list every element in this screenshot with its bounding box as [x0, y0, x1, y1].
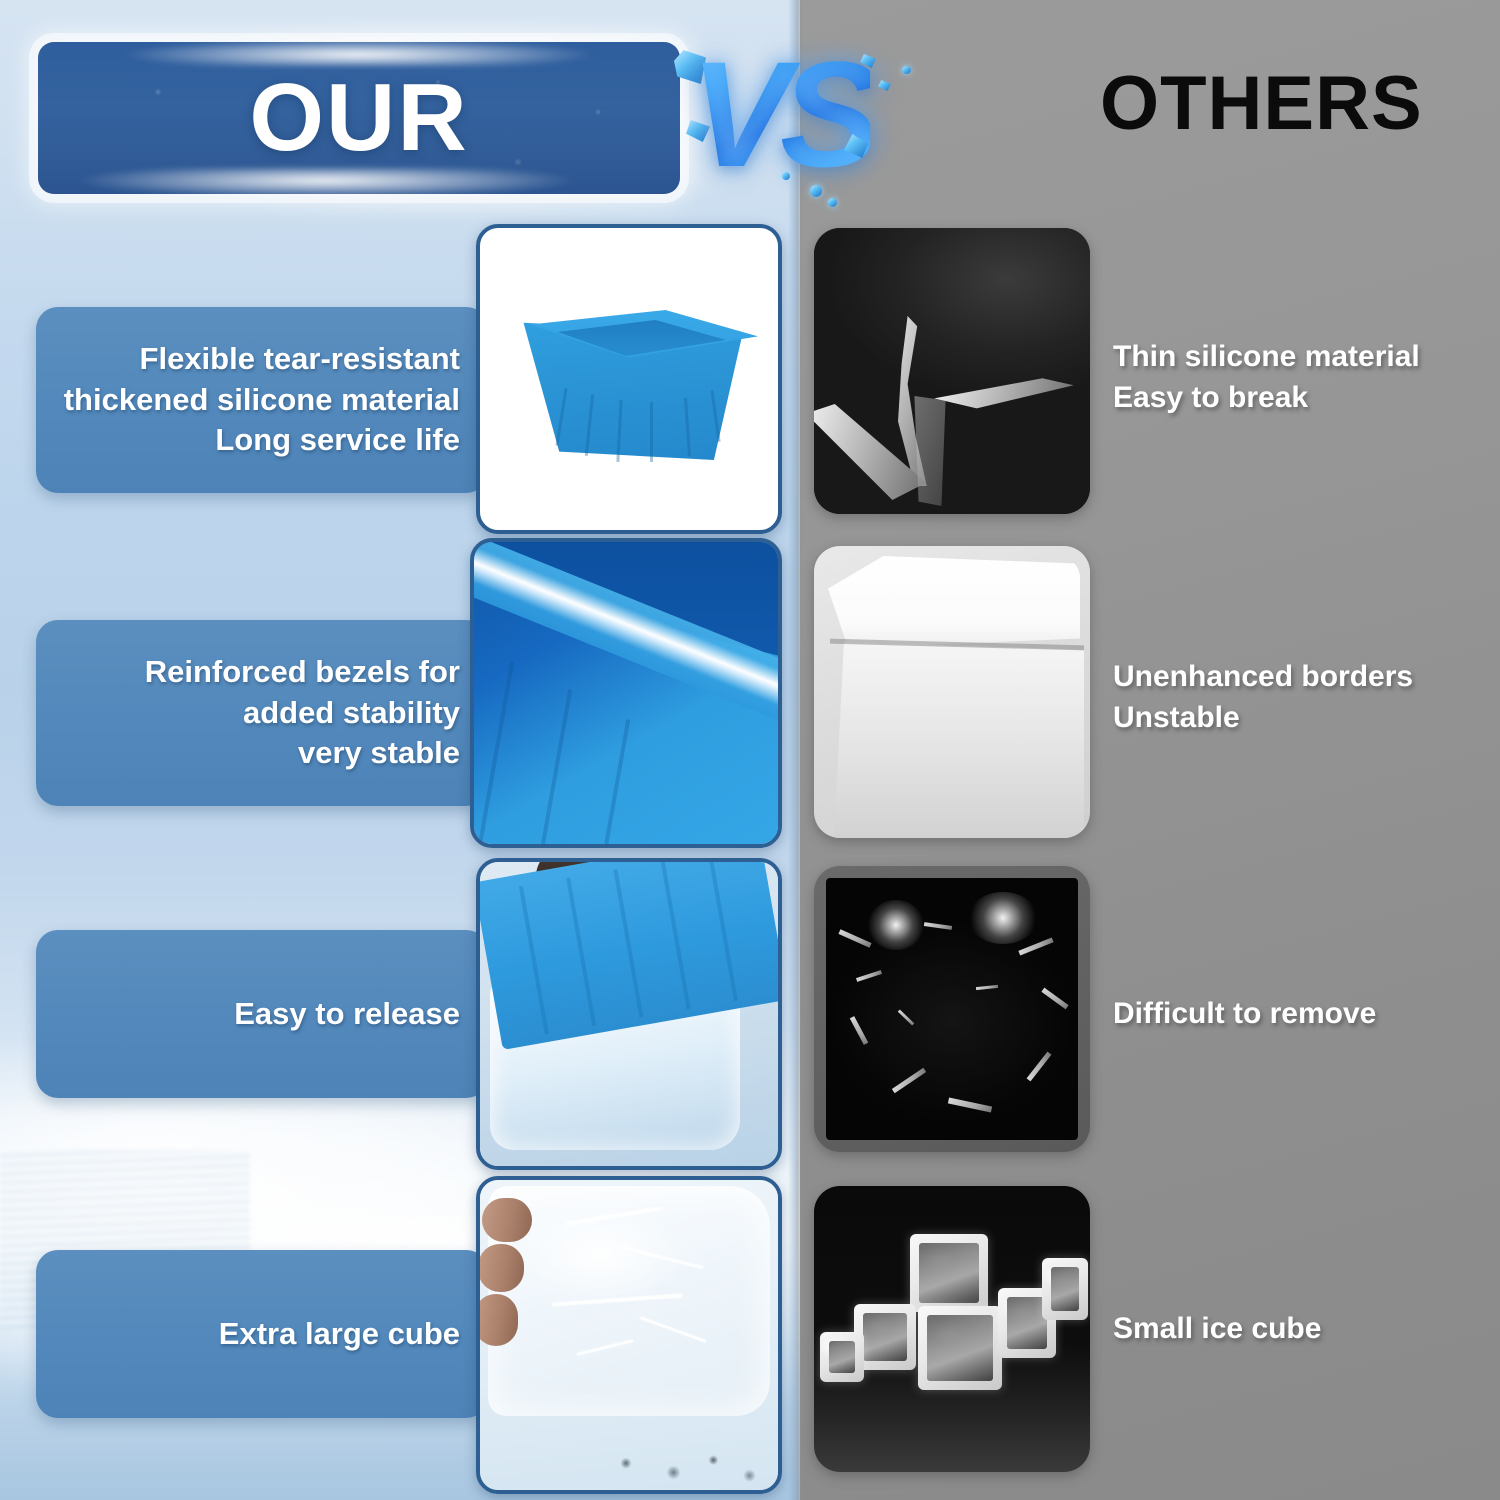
lid-rib — [661, 861, 691, 1009]
stuck-ice-illustration — [814, 866, 1090, 1152]
finger — [476, 1294, 518, 1346]
mold-rib — [590, 719, 630, 848]
lid-rib — [566, 878, 596, 1026]
ice-droplet-icon — [810, 185, 822, 197]
ours-feature-text-1: Flexible tear-resistant thickened silico… — [64, 339, 460, 462]
ice-flare — [968, 892, 1038, 944]
ice-fragment — [924, 922, 952, 930]
ice-shard-icon — [878, 80, 891, 91]
small-ice-cube — [820, 1332, 864, 1382]
ours-banner: OUR — [38, 42, 680, 194]
mold-rib — [474, 661, 514, 848]
ice-fragment — [850, 1016, 868, 1045]
ours-image-1 — [476, 224, 782, 534]
mold-rib — [532, 689, 572, 848]
lid-rib — [519, 886, 549, 1034]
others-feature-text-2: Unenhanced borders Unstable — [1113, 656, 1413, 739]
easy-release-illustration — [480, 862, 778, 1166]
ours-feature-text-4: Extra large cube — [219, 1314, 460, 1355]
ours-feature-box-2: Reinforced bezels for added stability ve… — [36, 620, 488, 806]
others-feature-text-3: Difficult to remove — [1113, 993, 1376, 1034]
ice-droplet-icon — [902, 66, 911, 74]
ice-rubble — [588, 1426, 778, 1488]
ice-fragment — [976, 985, 998, 990]
ours-feature-box-3: Easy to release — [36, 930, 488, 1098]
ours-image-4 — [476, 1176, 782, 1494]
torn-silicone-illustration — [814, 228, 1090, 514]
lid-rib — [708, 858, 738, 1001]
ours-feature-text-3: Easy to release — [234, 994, 460, 1035]
small-ice-cube — [910, 1234, 988, 1312]
ice-droplet-icon — [828, 198, 837, 207]
ours-title: OUR — [38, 42, 680, 194]
large-ice-cube-illustration — [480, 1180, 778, 1490]
ice-fragment — [838, 929, 871, 947]
ice-fragment — [856, 970, 882, 982]
ours-image-2 — [470, 538, 782, 848]
ours-feature-text-2: Reinforced bezels for added stability ve… — [145, 652, 460, 775]
silicone-mold-illustration — [508, 302, 758, 462]
container-body — [834, 642, 1084, 838]
vs-badge: VS — [660, 20, 960, 210]
ice-fragment — [898, 1009, 914, 1025]
comparison-infographic: OUR VS OTHERS Flexible tear-resistant th… — [0, 0, 1500, 1500]
ice-flare — [868, 900, 924, 950]
ice-fragment — [1027, 1052, 1052, 1082]
others-image-1 — [814, 228, 1090, 514]
tear-edge — [933, 372, 1075, 415]
ice-fragment — [1018, 937, 1053, 955]
others-image-4 — [814, 1186, 1090, 1472]
ice-fragment — [948, 1097, 992, 1112]
shattered-ice-field — [826, 878, 1078, 1140]
others-feature-text-1: Thin silicone material Easy to break — [1113, 336, 1420, 419]
plain-container-illustration — [814, 546, 1090, 838]
small-ice-cube — [1042, 1258, 1088, 1320]
ice-fragment — [1041, 988, 1068, 1010]
ours-image-3 — [476, 858, 782, 1170]
ice-fragment — [892, 1068, 926, 1093]
finger — [478, 1244, 524, 1292]
others-image-3 — [814, 866, 1090, 1152]
hand-illustration — [482, 1198, 546, 1368]
lid-rib — [613, 869, 643, 1017]
ours-feature-box-4: Extra large cube — [36, 1250, 488, 1418]
container-lid — [828, 556, 1080, 652]
small-ice-cube — [918, 1306, 1002, 1390]
mold-rib — [650, 402, 653, 462]
finger — [482, 1198, 532, 1242]
others-image-2 — [814, 546, 1090, 838]
others-title: OTHERS — [1100, 60, 1423, 147]
small-ice-cubes-illustration — [814, 1186, 1090, 1472]
ours-feature-box-1: Flexible tear-resistant thickened silico… — [36, 307, 488, 493]
reinforced-rim-illustration — [474, 542, 778, 844]
vs-label: VS — [690, 28, 870, 201]
others-feature-text-4: Small ice cube — [1113, 1308, 1321, 1349]
ice-droplet-icon — [782, 172, 790, 180]
